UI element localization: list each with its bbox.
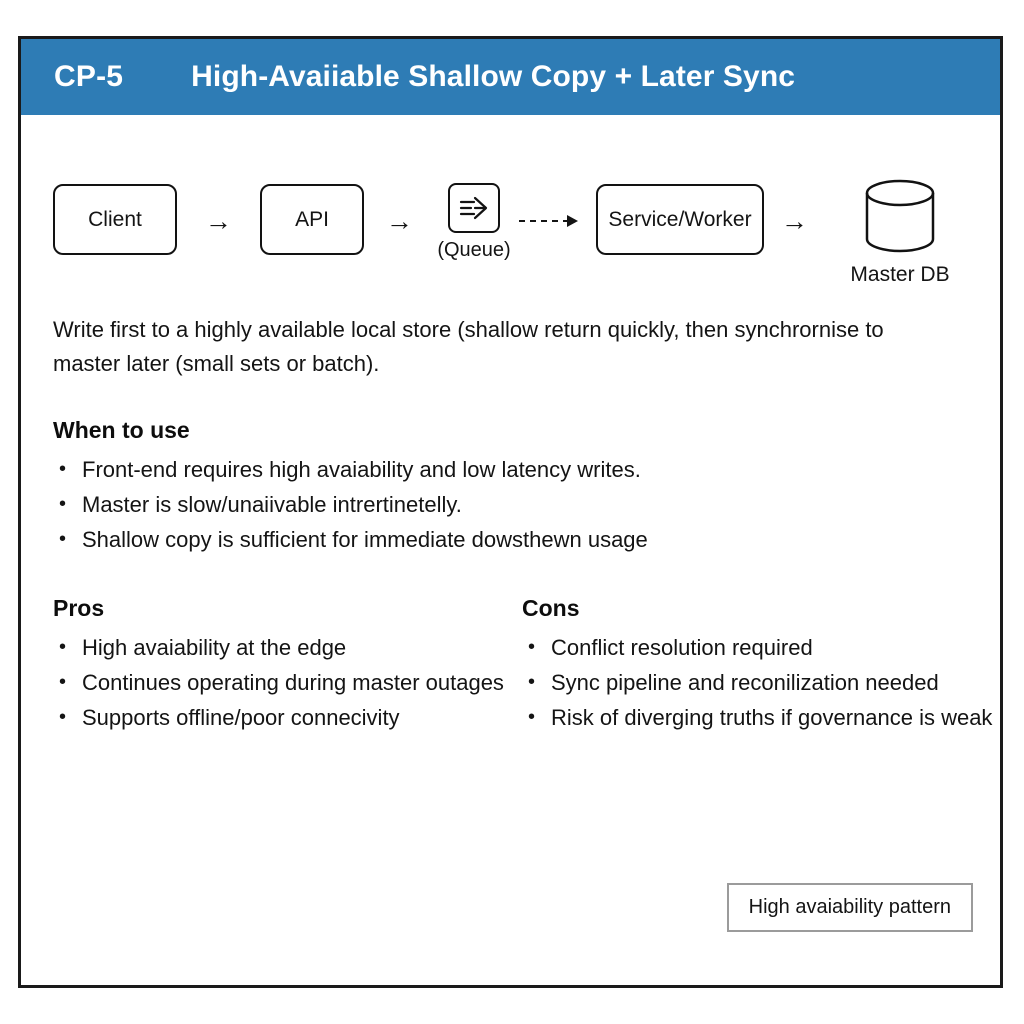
pattern-card: CP-5 High-Avaiiable Shallow Copy + Later… bbox=[18, 36, 1003, 988]
diagram-node-queue: (Queue) bbox=[435, 183, 513, 262]
status-badge: High avaiability pattern bbox=[727, 883, 973, 932]
when-to-use-heading: When to use bbox=[53, 417, 968, 444]
diagram-node-api-label: API bbox=[295, 208, 329, 232]
pros-column: Pros High avaiability at the edge Contin… bbox=[53, 595, 504, 735]
list-item: Supports offline/poor connecivity bbox=[53, 700, 504, 735]
list-item: High avaiability at the edge bbox=[53, 630, 504, 665]
list-item: Master is slow/unaiivable intrertinetell… bbox=[53, 487, 968, 522]
list-item: Sync pipeline and reconilization needed bbox=[522, 665, 992, 700]
list-item: Continues operating during master outage… bbox=[53, 665, 504, 700]
list-item: Front-end requires high avaiability and … bbox=[53, 452, 968, 487]
pros-heading: Pros bbox=[53, 595, 504, 622]
list-item: Shallow copy is sufficient for immediate… bbox=[53, 522, 968, 557]
list-item: Risk of diverging truths if governance i… bbox=[522, 700, 992, 735]
arrow-service-to-db: → bbox=[781, 214, 808, 228]
arrow-client-to-api: → bbox=[205, 214, 232, 228]
diagram-node-client: Client bbox=[53, 184, 177, 255]
cons-list: Conflict resolution required Sync pipeli… bbox=[522, 630, 992, 735]
diagram-node-queue-label: (Queue) bbox=[435, 239, 513, 262]
dashed-line bbox=[519, 220, 569, 222]
diagram-node-master-db-label: Master DB bbox=[827, 263, 973, 287]
architecture-diagram: Client → API → (Queue) bbox=[21, 115, 1000, 307]
diagram-node-service-worker: Service/Worker bbox=[596, 184, 764, 255]
pros-list: High avaiability at the edge Continues o… bbox=[53, 630, 504, 735]
card-header: CP-5 High-Avaiiable Shallow Copy + Later… bbox=[21, 39, 1000, 115]
cons-heading: Cons bbox=[522, 595, 992, 622]
pattern-code: CP-5 bbox=[54, 60, 123, 94]
when-to-use-list: Front-end requires high avaiability and … bbox=[53, 452, 968, 557]
diagram-node-service-worker-label: Service/Worker bbox=[608, 208, 751, 232]
arrow-api-to-queue: → bbox=[386, 214, 413, 228]
arrow-queue-to-service-dashed bbox=[519, 220, 583, 222]
card-body: Write first to a highly available local … bbox=[21, 313, 1000, 765]
pattern-description: Write first to a highly available local … bbox=[53, 313, 953, 381]
cons-column: Cons Conflict resolution required Sync p… bbox=[522, 595, 992, 735]
page-title: High-Avaiiable Shallow Copy + Later Sync bbox=[191, 60, 795, 94]
diagram-node-client-label: Client bbox=[88, 208, 142, 232]
list-item: Conflict resolution required bbox=[522, 630, 992, 665]
diagram-node-master-db: Master DB bbox=[827, 177, 973, 287]
pros-cons-section: Pros High avaiability at the edge Contin… bbox=[53, 595, 968, 765]
database-cylinder-icon bbox=[862, 177, 938, 257]
arrow-head bbox=[567, 215, 578, 227]
queue-arrow-icon bbox=[448, 183, 500, 233]
diagram-node-api: API bbox=[260, 184, 364, 255]
